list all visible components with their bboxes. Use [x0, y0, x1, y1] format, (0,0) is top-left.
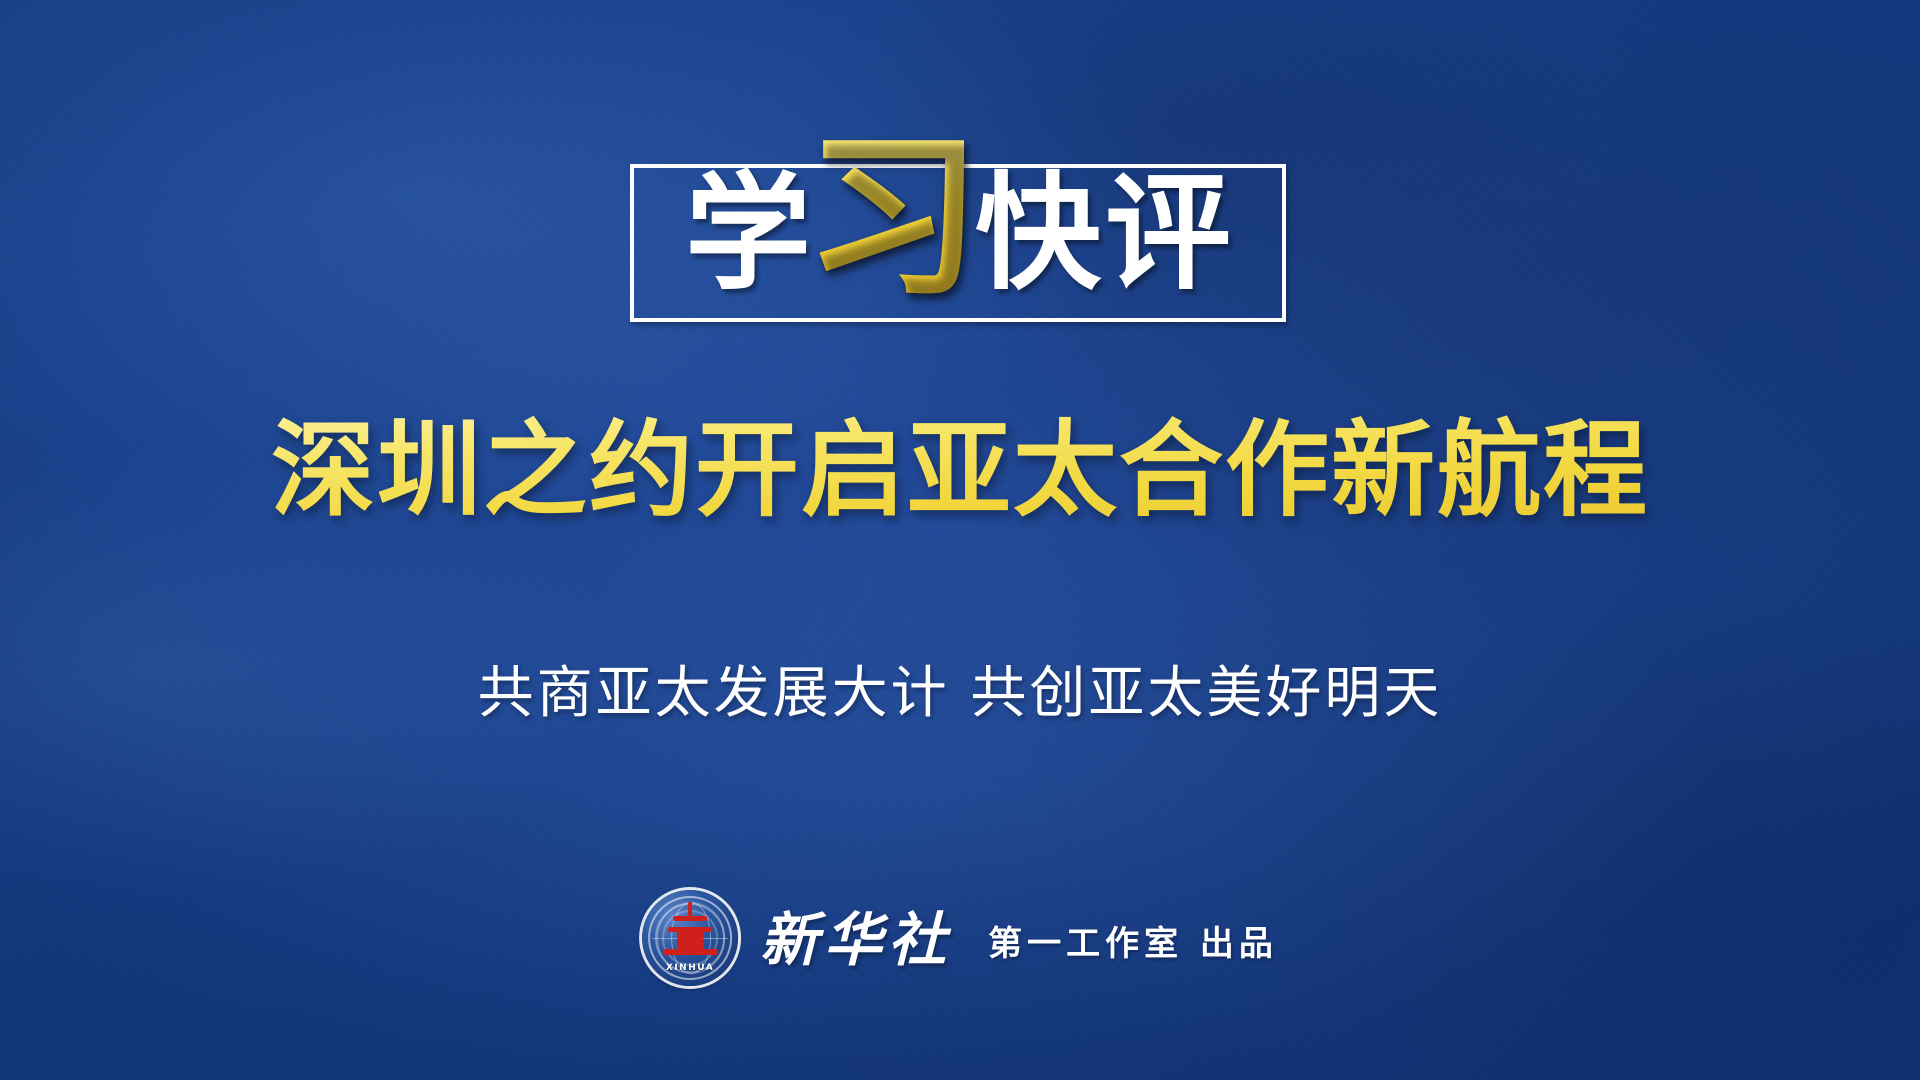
xinhua-globe-emblem-icon: XINHUA — [642, 890, 738, 986]
emblem-wordmark: XINHUA — [642, 963, 738, 973]
tower-base — [663, 949, 717, 955]
studio-credit: 第一工作室 出品 — [988, 927, 1278, 961]
subheadline-text: 共商亚太发展大计 共创亚太美好明天 — [0, 660, 1920, 727]
agency-name: 新华社 — [760, 911, 952, 969]
brand-char-1: 学 — [685, 170, 811, 296]
slide-canvas: 学 习 快 评 深圳之约开启亚太合作新航程 共商亚太发展大计 共创亚太美好明天 — [0, 0, 1920, 1080]
tower-upper-roof — [673, 916, 707, 921]
credits-row: XINHUA 新华社 第一工作室 出品 — [642, 890, 1278, 986]
emblem-pagoda-tower-icon — [661, 902, 719, 958]
tower-column-gap-left — [682, 935, 687, 950]
brand-char-4: 评 — [1105, 170, 1231, 296]
brand-characters: 学 习 快 评 — [630, 138, 1286, 328]
headline-title: 深圳之约开启亚太合作新航程 — [0, 412, 1920, 528]
brand-char-3: 快 — [975, 170, 1101, 296]
program-brand-lockup: 学 习 快 评 — [630, 138, 1290, 328]
brand-char-2-accent: 习 — [805, 129, 981, 305]
tower-column-gap-right — [693, 935, 698, 950]
tower-body — [677, 932, 703, 950]
